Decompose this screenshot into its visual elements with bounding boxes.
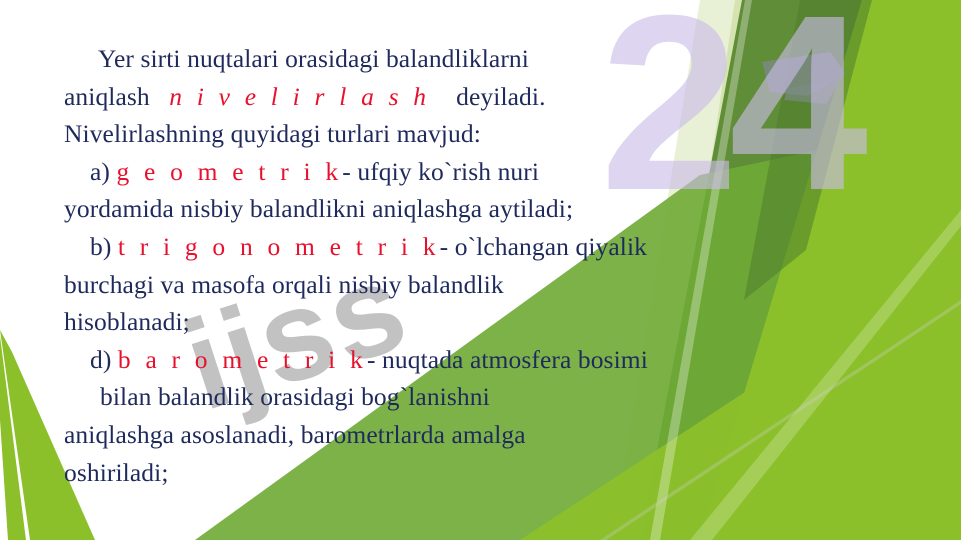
text-run: yordamida nisbiy balandlikni aniqlashga … [64,194,573,223]
text-run: aniqlash [64,82,169,111]
text-line: oshiriladi; [64,454,764,492]
text-run: burchagi va masofa orqali nisbiy balandl… [64,270,504,299]
text-line: d) b a r o m e t r i k- nuqtada atmosfer… [64,341,764,379]
text-run: b) [90,232,118,261]
text-line: bilan balandlik orasidagi bog`lanishni [64,378,764,416]
text-line: Yer sirti nuqtalari orasidagi balandlikl… [64,40,764,78]
text-line: Nivelirlashning quyidagi turlari mavjud: [64,115,764,153]
text-line: aniqlash n i v e l i r l a s h deyiladi. [64,78,764,116]
text-line: b) t r i g o n o m e t r i k- o`lchangan… [64,228,764,266]
text-run: deyiladi. [430,82,545,111]
text-line: hisoblanadi; [64,303,764,341]
presentation-slide: 24 ijss Yer sirti nuqtalari orasidagi ba… [0,0,961,540]
text-run: - nuqtada atmosfera bosimi [367,345,648,374]
text-run: - o`lchangan qiyalik [440,232,647,261]
text-line: a) g e o m e t r i k- ufqiy ko`rish nuri [64,153,764,191]
text-run: Nivelirlashning quyidagi turlari mavjud: [64,119,481,148]
text-line: yordamida nisbiy balandlikni aniqlashga … [64,190,764,228]
text-run: oshiriladi; [64,458,169,487]
highlighted-term: g e o m e t r i k [117,157,343,186]
text-line: aniqlashga asoslanadi, barometrlarda ama… [64,416,764,454]
text-run: d) [90,345,118,374]
text-run: bilan balandlik orasidagi bog`lanishni [100,382,490,411]
text-run: hisoblanadi; [64,307,190,336]
highlighted-term: b a r o m e t r i k [118,345,367,374]
highlighted-term-italic: n i v e l i r l a s h [169,82,430,111]
text-run: Yer sirti nuqtalari orasidagi balandlikl… [98,44,529,73]
text-line: burchagi va masofa orqali nisbiy balandl… [64,266,764,304]
highlighted-term: t r i g o n o m e t r i k [118,232,440,261]
text-run: aniqlashga asoslanadi, barometrlarda ama… [64,420,526,449]
text-run: a) [90,157,117,186]
text-run: - ufqiy ko`rish nuri [342,157,539,186]
slide-body-text: Yer sirti nuqtalari orasidagi balandlikl… [64,40,764,491]
